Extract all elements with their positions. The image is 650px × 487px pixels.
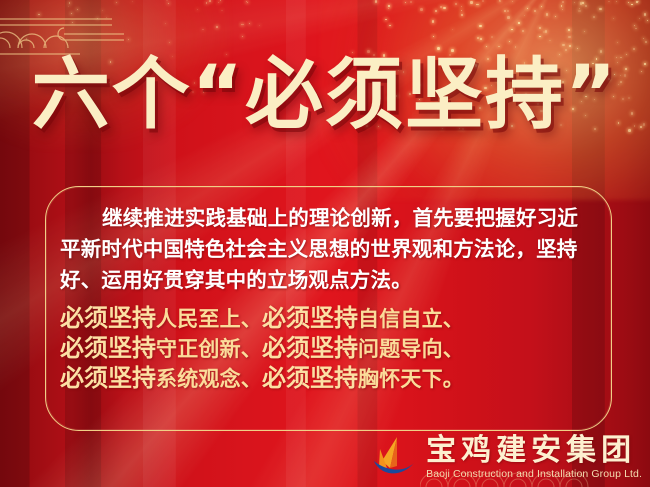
principle-value: 守正创新、 — [156, 337, 262, 361]
principle-key: 必须坚持 — [60, 304, 156, 332]
logo-name-cn: 宝鸡建安集团 — [426, 434, 642, 467]
logo-text-group: 宝鸡建安集团 Baoji Construction and Installati… — [426, 434, 642, 481]
flame-sail-logo-icon — [370, 435, 418, 481]
poster-title: 六个“必须坚持” — [0, 40, 650, 150]
company-logo: 宝鸡建安集团 Baoji Construction and Installati… — [370, 434, 642, 481]
principle-key: 必须坚持 — [60, 334, 156, 362]
principle-line: 必须坚持守正创新、必须坚持问题导向、 — [60, 334, 597, 364]
body-paragraph: 继续推进实践基础上的理论创新，首先要把握好习近平新时代中国特色社会主义思想的世界… — [60, 203, 597, 296]
principle-value: 问题导向、 — [358, 337, 464, 361]
principle-value: 人民至上、 — [156, 307, 262, 331]
principle-line: 必须坚持人民至上、必须坚持自信自立、 — [60, 304, 597, 334]
principle-key: 必须坚持 — [262, 334, 358, 362]
principles-list: 必须坚持人民至上、必须坚持自信自立、 必须坚持守正创新、必须坚持问题导向、 必须… — [60, 304, 597, 394]
principle-value: 自信自立、 — [358, 307, 464, 331]
principle-key: 必须坚持 — [262, 304, 358, 332]
content-box: 继续推进实践基础上的理论创新，首先要把握好习近平新时代中国特色社会主义思想的世界… — [45, 186, 612, 431]
principle-line: 必须坚持系统观念、必须坚持胸怀天下。 — [60, 364, 597, 394]
principle-value: 系统观念、 — [156, 367, 262, 391]
poster-canvas: 六个“必须坚持” 继续推进实践基础上的理论创新，首先要把握好习近平新时代中国特色… — [0, 0, 650, 487]
principle-key: 必须坚持 — [60, 364, 156, 392]
principle-key: 必须坚持 — [262, 364, 358, 392]
principle-value: 胸怀天下。 — [358, 367, 464, 391]
logo-name-en: Baoji Construction and Installation Grou… — [426, 468, 642, 481]
